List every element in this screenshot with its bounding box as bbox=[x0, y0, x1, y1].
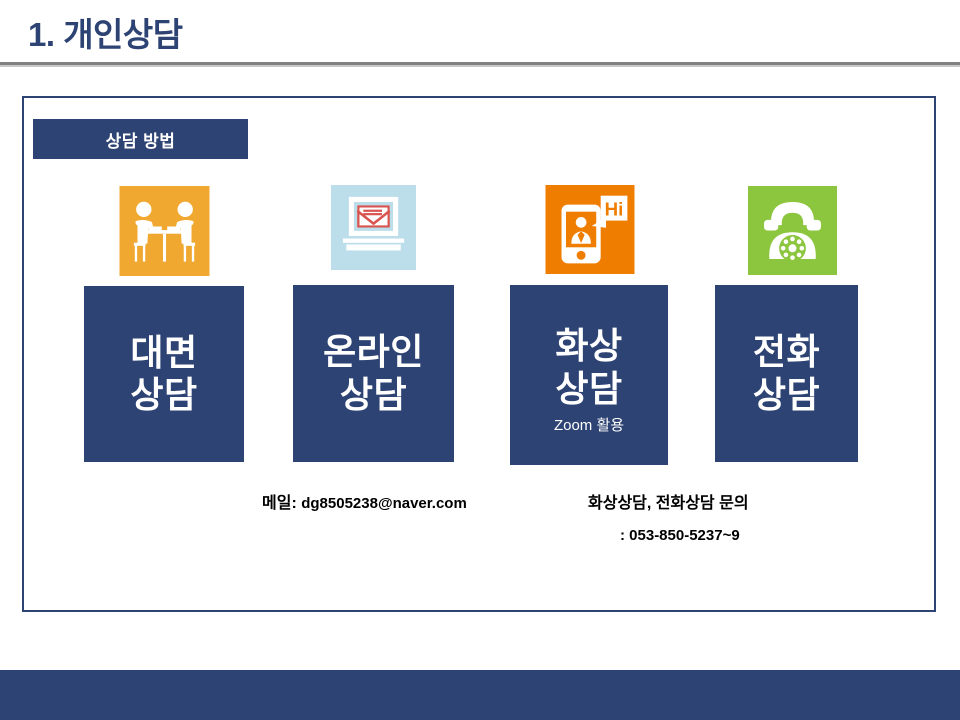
title-divider-secondary bbox=[0, 65, 960, 67]
method-card-video[interactable]: 화상 상담 Zoom 활용 bbox=[510, 285, 668, 465]
method-card-phone[interactable]: 전화 상담 bbox=[715, 285, 858, 462]
method-card-online[interactable]: 온라인 상담 bbox=[293, 285, 454, 462]
telephone-icon bbox=[747, 186, 838, 275]
video-call-phone-icon: Hi bbox=[545, 185, 635, 274]
contact-mail-address: dg8505238@naver.com bbox=[301, 495, 467, 512]
method-card-label: 온라인 상담 bbox=[323, 331, 424, 416]
method-card-label: 전화 상담 bbox=[753, 331, 820, 416]
footer-bar bbox=[0, 670, 960, 720]
contact-phone-number: : 053-850-5237~9 bbox=[620, 527, 740, 544]
method-card-label: 화상 상담 bbox=[555, 325, 622, 410]
method-card-in-person[interactable]: 대면 상담 bbox=[84, 286, 244, 462]
contact-inquiry-label: 화상상담, 전화상담 문의 bbox=[588, 489, 749, 513]
section-badge-label: 상담 방법 bbox=[106, 127, 176, 152]
section-badge: 상담 방법 bbox=[33, 119, 248, 159]
slide-root: 1. 개인상담 상담 방법 bbox=[0, 0, 960, 720]
contact-mail-label: 메일: bbox=[262, 495, 297, 512]
in-person-meeting-icon bbox=[119, 186, 210, 276]
svg-text:Hi: Hi bbox=[605, 198, 624, 219]
page-title: 1. 개인상담 bbox=[28, 15, 183, 55]
method-card-label: 대면 상담 bbox=[130, 332, 197, 417]
method-card-sublabel: Zoom 활용 bbox=[554, 418, 624, 435]
contact-mail: 메일: dg8505238@naver.com bbox=[262, 489, 467, 513]
laptop-email-icon bbox=[323, 185, 424, 270]
